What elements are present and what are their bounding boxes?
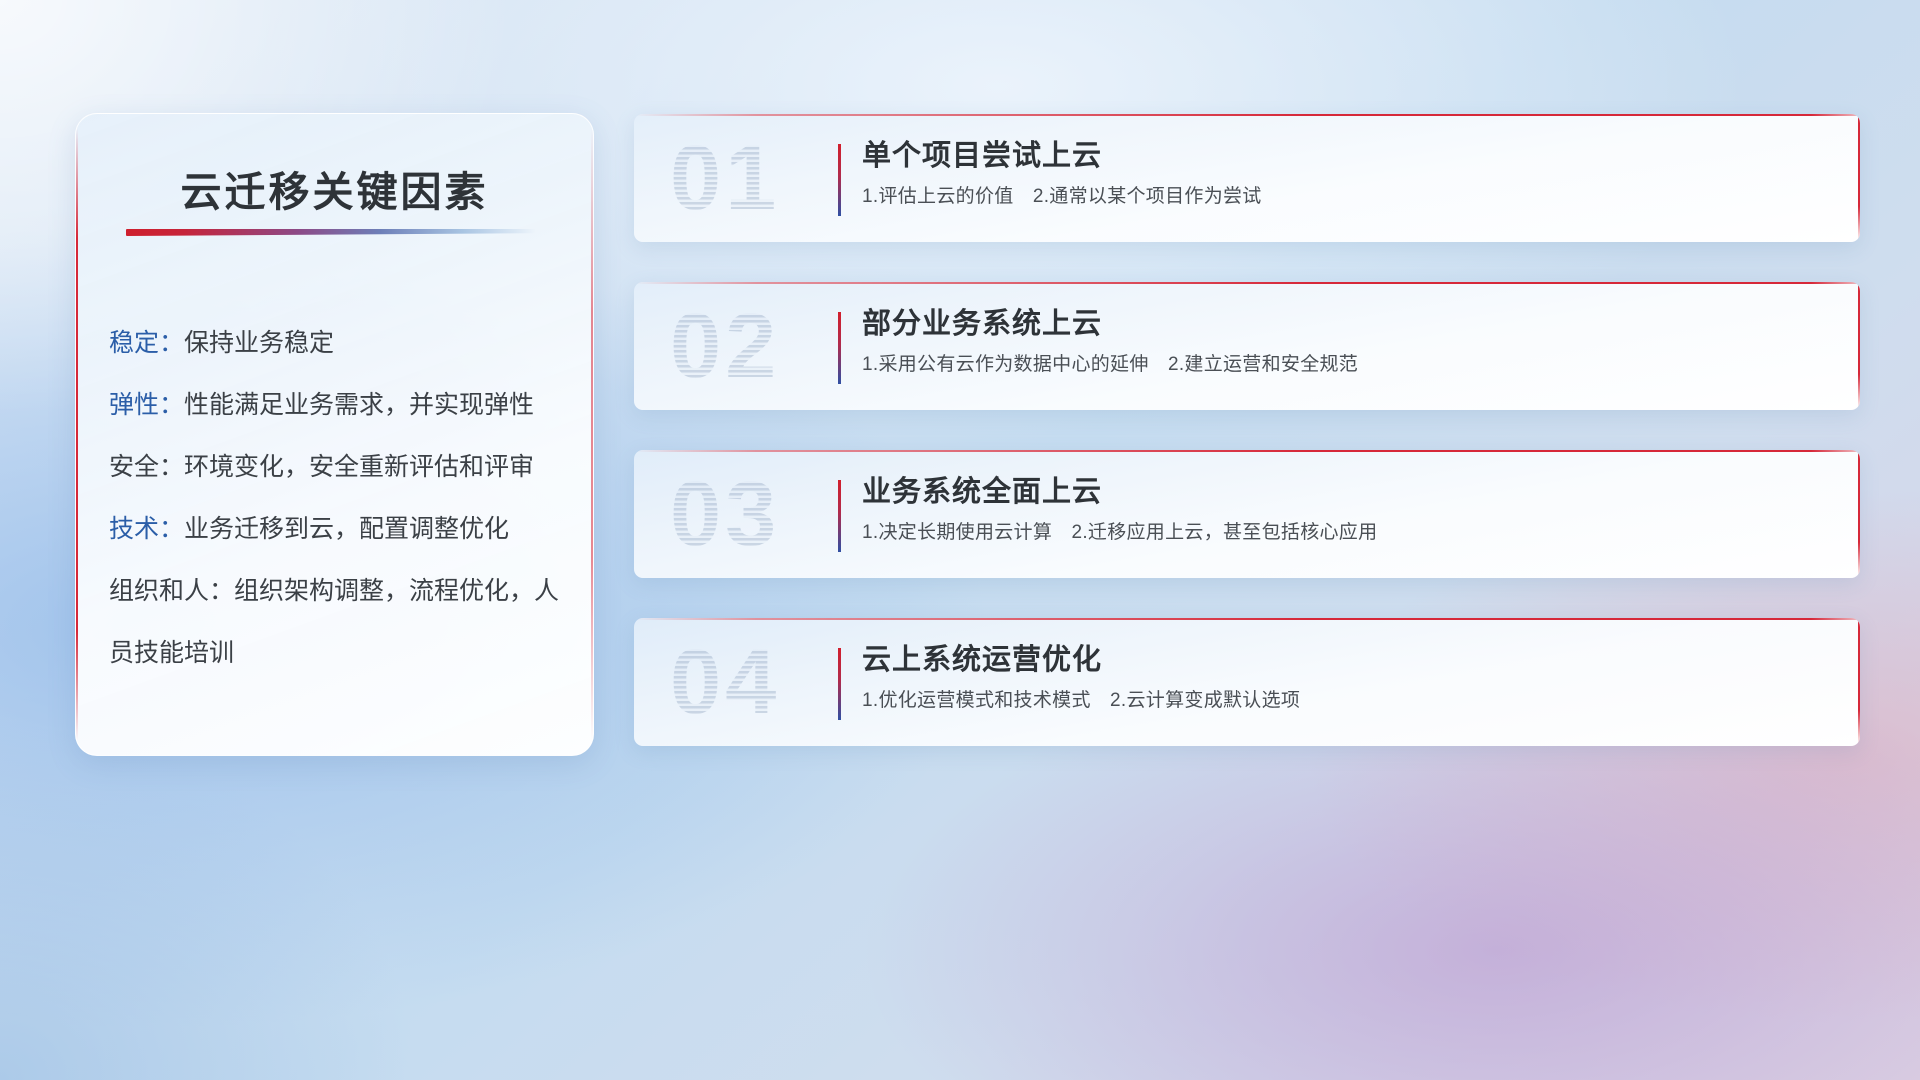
stage-divider-bar-01 bbox=[838, 144, 841, 216]
stage-detail-02: 1.采用公有云作为数据中心的延伸 2.建立运营和安全规范 bbox=[862, 348, 1830, 382]
factor-value-technology: 业务迁移到云，配置调整优化 bbox=[184, 515, 509, 543]
factor-row-elasticity: 弹性：性能满足业务需求，并实现弹性 bbox=[109, 374, 573, 436]
stage-divider-bar-04 bbox=[838, 648, 841, 720]
factor-row-technology: 技术：业务迁移到云，配置调整优化 bbox=[109, 498, 573, 560]
stage-card-01[interactable]: 01 单个项目尝试上云 1.评估上云的价值 2.通常以某个项目作为尝试 bbox=[634, 114, 1860, 242]
stage-card-02[interactable]: 02 部分业务系统上云 1.采用公有云作为数据中心的延伸 2.建立运营和安全规范 bbox=[634, 282, 1860, 410]
factor-label-stability: 稳定： bbox=[109, 329, 184, 357]
factor-label-security: 安全： bbox=[109, 453, 184, 481]
stage-body-01: 单个项目尝试上云 1.评估上云的价值 2.通常以某个项目作为尝试 bbox=[862, 136, 1830, 214]
factor-value-elasticity: 性能满足业务需求，并实现弹性 bbox=[184, 391, 534, 419]
stage-title-03: 业务系统全面上云 bbox=[862, 472, 1830, 512]
migration-stage-cards: 01 单个项目尝试上云 1.评估上云的价值 2.通常以某个项目作为尝试 02 部… bbox=[634, 114, 1860, 786]
factor-value-security: 环境变化，安全重新评估和评审 bbox=[184, 453, 534, 481]
factor-label-technology: 技术： bbox=[109, 515, 184, 543]
stage-number-02: 02 bbox=[670, 290, 840, 402]
factor-label-elasticity: 弹性： bbox=[109, 391, 184, 419]
stage-divider-bar-03 bbox=[838, 480, 841, 552]
stage-number-04: 04 bbox=[670, 626, 840, 738]
stage-detail-03: 1.决定长期使用云计算 2.迁移应用上云，甚至包括核心应用 bbox=[862, 516, 1830, 550]
factor-row-security: 安全：环境变化，安全重新评估和评审 bbox=[109, 436, 573, 498]
stage-card-03[interactable]: 03 业务系统全面上云 1.决定长期使用云计算 2.迁移应用上云，甚至包括核心应… bbox=[634, 450, 1860, 578]
stage-body-02: 部分业务系统上云 1.采用公有云作为数据中心的延伸 2.建立运营和安全规范 bbox=[862, 304, 1830, 382]
background-glow-bottom-left bbox=[0, 720, 420, 1080]
factor-label-organization: 组织和人： bbox=[109, 577, 234, 605]
title-underline-gradient bbox=[126, 229, 536, 236]
stage-card-04[interactable]: 04 云上系统运营优化 1.优化运营模式和技术模式 2.云计算变成默认选项 bbox=[634, 618, 1860, 746]
stage-body-03: 业务系统全面上云 1.决定长期使用云计算 2.迁移应用上云，甚至包括核心应用 bbox=[862, 472, 1830, 550]
key-factors-list: 稳定：保持业务稳定 弹性：性能满足业务需求，并实现弹性 安全：环境变化，安全重新… bbox=[109, 312, 573, 684]
stage-title-01: 单个项目尝试上云 bbox=[862, 136, 1830, 176]
stage-divider-bar-02 bbox=[838, 312, 841, 384]
stage-detail-04: 1.优化运营模式和技术模式 2.云计算变成默认选项 bbox=[862, 684, 1830, 718]
factor-value-stability: 保持业务稳定 bbox=[184, 329, 334, 357]
key-factors-panel: 云迁移关键因素 稳定：保持业务稳定 弹性：性能满足业务需求，并实现弹性 安全：环… bbox=[75, 113, 594, 756]
stage-title-02: 部分业务系统上云 bbox=[862, 304, 1830, 344]
stage-number-01: 01 bbox=[670, 122, 840, 234]
factor-row-stability: 稳定：保持业务稳定 bbox=[109, 312, 573, 374]
stage-number-03: 03 bbox=[670, 458, 840, 570]
stage-detail-01: 1.评估上云的价值 2.通常以某个项目作为尝试 bbox=[862, 180, 1830, 214]
stage-body-04: 云上系统运营优化 1.优化运营模式和技术模式 2.云计算变成默认选项 bbox=[862, 640, 1830, 718]
factor-row-organization: 组织和人：组织架构调整，流程优化，人员技能培训 bbox=[109, 560, 573, 684]
stage-title-04: 云上系统运营优化 bbox=[862, 640, 1830, 680]
panel-title: 云迁移关键因素 bbox=[76, 158, 593, 218]
